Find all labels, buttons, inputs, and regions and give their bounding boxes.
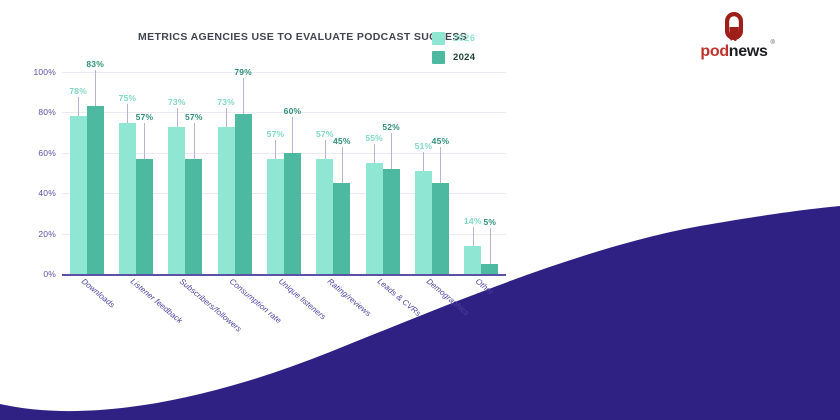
chart-title: METRICS AGENCIES USE TO EVALUATE PODCAST… bbox=[138, 31, 467, 43]
podnews-logo: podnews® bbox=[688, 10, 780, 66]
bar-2026[interactable] bbox=[366, 163, 383, 274]
label-leader-line bbox=[226, 108, 227, 127]
legend-item-2024: 2024 bbox=[432, 49, 475, 65]
bar-2024[interactable] bbox=[284, 153, 301, 274]
x-axis-labels: DownloadsListener feedbackSubscribers/fo… bbox=[62, 276, 506, 336]
label-leader-line bbox=[275, 140, 276, 159]
x-axis-label-cell: Rating/reviews bbox=[309, 276, 358, 336]
data-label-2026: 75% bbox=[119, 93, 137, 103]
y-axis-tick: 100% bbox=[33, 67, 56, 77]
data-label-2024: 45% bbox=[333, 136, 351, 146]
data-label-2026: 51% bbox=[415, 141, 433, 151]
data-label-2026: 55% bbox=[365, 133, 383, 143]
label-leader-line bbox=[78, 97, 79, 116]
bar-2024[interactable] bbox=[235, 114, 252, 274]
label-leader-line bbox=[423, 152, 424, 171]
bar-group: 57%60% bbox=[259, 72, 308, 274]
bar-group: 57%45% bbox=[309, 72, 358, 274]
label-leader-line bbox=[95, 70, 96, 106]
bar-group: 14%5% bbox=[457, 72, 506, 274]
bar-2024[interactable] bbox=[432, 183, 449, 274]
legend-swatch-2026 bbox=[432, 32, 445, 45]
data-label-2026: 57% bbox=[267, 129, 285, 139]
bar-2024[interactable] bbox=[87, 106, 104, 274]
label-leader-line bbox=[391, 133, 392, 169]
bar-2024[interactable] bbox=[136, 159, 153, 274]
bar-pair bbox=[309, 72, 358, 274]
bar-2026[interactable] bbox=[119, 123, 136, 275]
label-leader-line bbox=[292, 117, 293, 153]
chart-slide: podnews® METRICS AGENCIES USE TO EVALUAT… bbox=[0, 0, 840, 420]
x-axis-label-cell: Listener feedback bbox=[111, 276, 160, 336]
legend-label-2024: 2024 bbox=[453, 52, 475, 63]
x-axis-label-cell: Subscribers/followers bbox=[161, 276, 210, 336]
x-axis-label: Other bbox=[474, 277, 496, 297]
bar-group: 51%45% bbox=[407, 72, 456, 274]
bar-2024[interactable] bbox=[481, 264, 498, 274]
plot-area: 0%20%40%60%80%100% 78%83%75%57%73%57%73%… bbox=[62, 72, 506, 274]
x-axis-label-cell: Other bbox=[457, 276, 506, 336]
bar-2026[interactable] bbox=[415, 171, 432, 274]
label-leader-line bbox=[144, 123, 145, 159]
bar-2026[interactable] bbox=[70, 116, 87, 274]
podnews-wordmark: podnews® bbox=[700, 44, 767, 60]
data-label-2024: 52% bbox=[382, 122, 400, 132]
data-label-2024: 79% bbox=[234, 67, 252, 77]
x-axis-label-cell: Downloads bbox=[62, 276, 111, 336]
data-label-2024: 45% bbox=[432, 136, 450, 146]
bar-group: 75%57% bbox=[111, 72, 160, 274]
label-leader-line bbox=[127, 104, 128, 123]
label-leader-line bbox=[490, 228, 491, 264]
logo-word-pod: pod bbox=[700, 43, 728, 60]
data-label-2024: 57% bbox=[185, 112, 203, 122]
data-label-2024: 57% bbox=[136, 112, 154, 122]
data-label-2026: 78% bbox=[69, 86, 87, 96]
bar-groups: 78%83%75%57%73%57%73%79%57%60%57%45%55%5… bbox=[62, 72, 506, 274]
bar-2026[interactable] bbox=[267, 159, 284, 274]
bar-group: 73%57% bbox=[161, 72, 210, 274]
registered-mark: ® bbox=[771, 40, 775, 46]
label-leader-line bbox=[325, 140, 326, 159]
data-label-2024: 5% bbox=[483, 217, 496, 227]
bar-2026[interactable] bbox=[218, 127, 235, 274]
x-axis-label-cell: Leads & CVRs bbox=[358, 276, 407, 336]
chart-legend: 2026 2024 bbox=[432, 30, 475, 68]
bar-2024[interactable] bbox=[333, 183, 350, 274]
bar-pair bbox=[259, 72, 308, 274]
y-axis-tick: 60% bbox=[38, 148, 56, 158]
bar-pair bbox=[407, 72, 456, 274]
x-axis-label-cell: Consumption rate bbox=[210, 276, 259, 336]
y-axis-tick: 40% bbox=[38, 188, 56, 198]
x-axis-label-cell: Unique listeners bbox=[259, 276, 308, 336]
legend-swatch-2024 bbox=[432, 51, 445, 64]
label-leader-line bbox=[177, 108, 178, 127]
bar-2026[interactable] bbox=[316, 159, 333, 274]
label-leader-line bbox=[473, 227, 474, 246]
bar-2026[interactable] bbox=[168, 127, 185, 274]
bar-2024[interactable] bbox=[383, 169, 400, 274]
legend-item-2026: 2026 bbox=[432, 30, 475, 46]
x-axis-label-cell: Demographics bbox=[407, 276, 456, 336]
bar-group: 55%52% bbox=[358, 72, 407, 274]
y-axis-tick: 80% bbox=[38, 107, 56, 117]
label-leader-line bbox=[194, 123, 195, 159]
bar-pair bbox=[62, 72, 111, 274]
bar-group: 73%79% bbox=[210, 72, 259, 274]
data-label-2024: 60% bbox=[284, 106, 302, 116]
data-label-2026: 57% bbox=[316, 129, 334, 139]
data-label-2026: 73% bbox=[168, 97, 186, 107]
y-axis-tick: 0% bbox=[43, 269, 56, 279]
bar-group: 78%83% bbox=[62, 72, 111, 274]
legend-label-2026: 2026 bbox=[453, 33, 475, 44]
bar-pair bbox=[457, 72, 506, 274]
label-leader-line bbox=[243, 78, 244, 114]
label-leader-line bbox=[440, 147, 441, 183]
bar-2026[interactable] bbox=[464, 246, 481, 274]
data-label-2026: 73% bbox=[217, 97, 235, 107]
label-leader-line bbox=[342, 147, 343, 183]
data-label-2024: 83% bbox=[86, 59, 104, 69]
y-axis-tick: 20% bbox=[38, 229, 56, 239]
podnews-microphone-mark bbox=[717, 10, 751, 42]
bar-pair bbox=[358, 72, 407, 274]
logo-word-news: news bbox=[729, 43, 768, 60]
data-label-2026: 14% bbox=[464, 216, 482, 226]
bar-2024[interactable] bbox=[185, 159, 202, 274]
label-leader-line bbox=[374, 144, 375, 163]
